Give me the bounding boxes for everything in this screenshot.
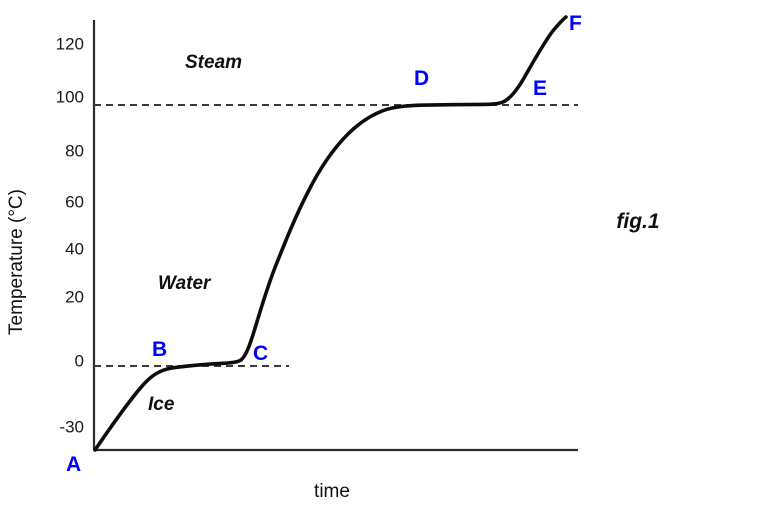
y-tick-label-120: 120 bbox=[56, 34, 84, 53]
x-axis-title: time bbox=[314, 481, 350, 502]
phase-label-steam: Steam bbox=[185, 52, 242, 73]
y-axis-tick-labels: 120 100 80 60 40 20 0 -30 bbox=[56, 34, 84, 436]
y-tick-label-20: 20 bbox=[65, 287, 84, 306]
point-label-c: C bbox=[253, 342, 268, 365]
figure-caption: fig.1 bbox=[616, 210, 659, 233]
y-tick-label-80: 80 bbox=[65, 141, 84, 160]
figure-container: 120 100 80 60 40 20 0 -30 Temperature (°… bbox=[0, 0, 768, 515]
point-label-e: E bbox=[533, 77, 547, 100]
point-annotations: A B C D E F bbox=[66, 12, 582, 476]
point-label-d: D bbox=[414, 67, 429, 90]
heating-curve-path bbox=[95, 17, 566, 450]
chart-axes bbox=[94, 20, 578, 450]
y-tick-label-60: 60 bbox=[65, 192, 84, 211]
heating-curve-chart: 120 100 80 60 40 20 0 -30 Temperature (°… bbox=[0, 0, 768, 515]
point-label-f: F bbox=[569, 12, 582, 35]
phase-label-ice: Ice bbox=[148, 394, 175, 415]
axis-titles: Temperature (°C) time bbox=[6, 189, 350, 502]
phase-label-water: Water bbox=[158, 273, 212, 294]
y-tick-label-100: 100 bbox=[56, 87, 84, 106]
reference-lines bbox=[94, 105, 578, 366]
y-tick-label-40: 40 bbox=[65, 239, 84, 258]
point-label-a: A bbox=[66, 453, 81, 476]
y-axis-title: Temperature (°C) bbox=[6, 189, 27, 335]
point-label-b: B bbox=[152, 338, 167, 361]
y-tick-label-neg30: -30 bbox=[59, 417, 84, 436]
y-tick-label-0: 0 bbox=[75, 351, 84, 370]
heating-curve-series bbox=[95, 17, 566, 450]
